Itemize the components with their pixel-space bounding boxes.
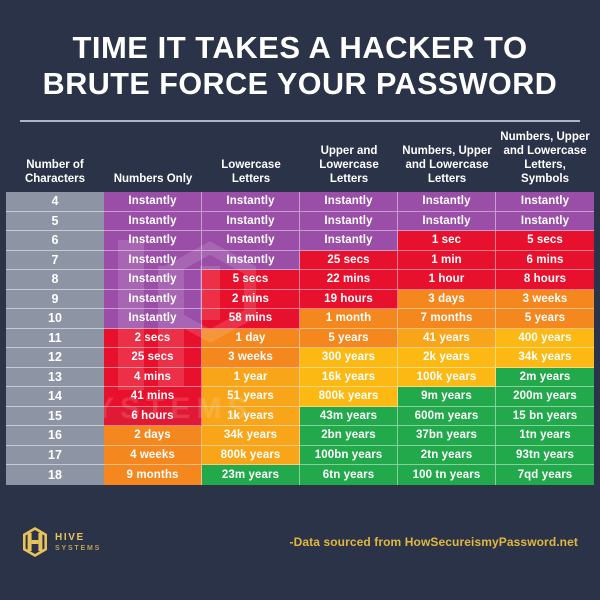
crack-time-cell: Instantly: [202, 251, 300, 271]
crack-time-cell: 300 years: [300, 348, 398, 368]
column-header-0: Number of Characters: [6, 158, 104, 192]
crack-time-cell: 2tn years: [398, 446, 496, 466]
table-body: SYSTEMS 4InstantlyInstantlyInstantlyInst…: [0, 192, 600, 485]
character-count-cell: 14: [6, 387, 104, 407]
crack-time-cell: 5 secs: [202, 270, 300, 290]
crack-time-cell: 3 weeks: [202, 348, 300, 368]
crack-time-cell: 400 years: [496, 329, 594, 349]
crack-time-cell: 37bn years: [398, 426, 496, 446]
crack-time-cell: 41 years: [398, 329, 496, 349]
crack-time-cell: 3 days: [398, 290, 496, 310]
table-header-row: Number of CharactersNumbers OnlyLowercas…: [0, 136, 600, 192]
crack-time-cell: Instantly: [202, 212, 300, 232]
crack-time-cell: 1 year: [202, 368, 300, 388]
crack-time-cell: Instantly: [104, 212, 202, 232]
hive-hexagon-icon: [22, 527, 48, 557]
table-row: 7InstantlyInstantly25 secs1 min6 mins: [6, 251, 594, 271]
table-row: 189 months23m years6tn years100 tn years…: [6, 465, 594, 485]
crack-time-cell: 2 mins: [202, 290, 300, 310]
crack-time-cell: 1tn years: [496, 426, 594, 446]
crack-time-cell: Instantly: [104, 309, 202, 329]
table-row: 134 mins1 year16k years100k years2m year…: [6, 368, 594, 388]
crack-time-cell: 800k years: [202, 446, 300, 466]
table-row: 5InstantlyInstantlyInstantlyInstantlyIns…: [6, 212, 594, 232]
table-row: 112 secs1 day5 years41 years400 years: [6, 329, 594, 349]
character-count-cell: 7: [6, 251, 104, 271]
crack-time-cell: 25 secs: [104, 348, 202, 368]
crack-time-cell: 51 years: [202, 387, 300, 407]
column-header-3: Upper and Lowercase Letters: [300, 144, 398, 192]
crack-time-cell: 100k years: [398, 368, 496, 388]
title-divider: [20, 120, 580, 122]
crack-time-cell: 58 mins: [202, 309, 300, 329]
crack-time-cell: Instantly: [104, 192, 202, 212]
column-header-5: Numbers, Upper and Lowercase Letters, Sy…: [496, 130, 594, 192]
crack-time-cell: Instantly: [104, 231, 202, 251]
crack-time-cell: 5 secs: [496, 231, 594, 251]
character-count-cell: 4: [6, 192, 104, 212]
crack-time-cell: 1 month: [300, 309, 398, 329]
data-source-note: -Data sourced from HowSecureismyPassword…: [290, 535, 579, 549]
character-count-cell: 16: [6, 426, 104, 446]
crack-time-cell: 34k years: [496, 348, 594, 368]
crack-time-cell: 7 months: [398, 309, 496, 329]
crack-time-cell: Instantly: [202, 192, 300, 212]
logo-wordmark: HIVE SYSTEMS: [55, 533, 101, 552]
page-title-line-2: BRUTE FORCE YOUR PASSWORD: [18, 66, 582, 102]
logo-name: HIVE: [55, 533, 101, 543]
table-row: 162 days34k years2bn years37bn years1tn …: [6, 426, 594, 446]
character-count-cell: 17: [6, 446, 104, 466]
crack-time-cell: 100 tn years: [398, 465, 496, 485]
crack-time-cell: 1 sec: [398, 231, 496, 251]
crack-time-cell: 6 hours: [104, 407, 202, 427]
crack-time-cell: 9 months: [104, 465, 202, 485]
crack-time-cell: 3 weeks: [496, 290, 594, 310]
table-row: 10Instantly58 mins1 month7 months5 years: [6, 309, 594, 329]
crack-time-cell: 25 secs: [300, 251, 398, 271]
crack-time-cell: 23m years: [202, 465, 300, 485]
character-count-cell: 13: [6, 368, 104, 388]
crack-time-cell: 2 days: [104, 426, 202, 446]
crack-time-cell: 7qd years: [496, 465, 594, 485]
crack-time-cell: 1 min: [398, 251, 496, 271]
crack-time-cell: 6tn years: [300, 465, 398, 485]
crack-time-cell: 9m years: [398, 387, 496, 407]
crack-time-cell: Instantly: [300, 192, 398, 212]
crack-time-cell: 200m years: [496, 387, 594, 407]
column-header-4: Numbers, Upper and Lowercase Letters: [398, 144, 496, 192]
table-row: 156 hours1k years43m years600m years15 b…: [6, 407, 594, 427]
crack-time-cell: 2 secs: [104, 329, 202, 349]
character-count-cell: 6: [6, 231, 104, 251]
crack-time-cell: Instantly: [104, 270, 202, 290]
table-row: 1225 secs3 weeks300 years2k years34k yea…: [6, 348, 594, 368]
table-row: 6InstantlyInstantlyInstantly1 sec5 secs: [6, 231, 594, 251]
crack-time-cell: 6 mins: [496, 251, 594, 271]
crack-time-cell: 1 day: [202, 329, 300, 349]
crack-time-cell: 600m years: [398, 407, 496, 427]
crack-time-cell: 16k years: [300, 368, 398, 388]
crack-time-cell: 1k years: [202, 407, 300, 427]
crack-time-cell: 5 years: [496, 309, 594, 329]
crack-time-cell: 8 hours: [496, 270, 594, 290]
crack-time-cell: Instantly: [496, 212, 594, 232]
hive-systems-logo: HIVE SYSTEMS: [22, 527, 101, 557]
crack-time-cell: 800k years: [300, 387, 398, 407]
column-header-1: Numbers Only: [104, 172, 202, 192]
crack-time-cell: 2m years: [496, 368, 594, 388]
crack-time-cell: Instantly: [300, 212, 398, 232]
character-count-cell: 8: [6, 270, 104, 290]
crack-time-cell: Instantly: [202, 231, 300, 251]
crack-time-cell: 34k years: [202, 426, 300, 446]
character-count-cell: 11: [6, 329, 104, 349]
character-count-cell: 9: [6, 290, 104, 310]
crack-time-cell: Instantly: [398, 212, 496, 232]
crack-time-cell: 43m years: [300, 407, 398, 427]
crack-time-cell: 93tn years: [496, 446, 594, 466]
crack-time-cell: 4 mins: [104, 368, 202, 388]
crack-time-cell: 22 mins: [300, 270, 398, 290]
crack-time-cell: Instantly: [104, 251, 202, 271]
crack-time-cell: Instantly: [496, 192, 594, 212]
crack-time-cell: 5 years: [300, 329, 398, 349]
character-count-cell: 15: [6, 407, 104, 427]
password-time-table: Number of CharactersNumbers OnlyLowercas…: [0, 136, 600, 485]
table-row: 4InstantlyInstantlyInstantlyInstantlyIns…: [6, 192, 594, 212]
crack-time-cell: 100bn years: [300, 446, 398, 466]
title-block: TIME IT TAKES A HACKER TO BRUTE FORCE YO…: [0, 0, 600, 122]
infographic-root: TIME IT TAKES A HACKER TO BRUTE FORCE YO…: [0, 0, 600, 600]
table-row: 174 weeks800k years100bn years2tn years9…: [6, 446, 594, 466]
character-count-cell: 12: [6, 348, 104, 368]
page-title-line-1: TIME IT TAKES A HACKER TO: [18, 30, 582, 66]
logo-subtitle: SYSTEMS: [55, 545, 101, 552]
crack-time-cell: 2k years: [398, 348, 496, 368]
crack-time-cell: 15 bn years: [496, 407, 594, 427]
footer: HIVE SYSTEMS -Data sourced from HowSecur…: [0, 485, 600, 600]
crack-time-cell: 19 hours: [300, 290, 398, 310]
crack-time-cell: 4 weeks: [104, 446, 202, 466]
table-row: 8Instantly5 secs22 mins1 hour8 hours: [6, 270, 594, 290]
crack-time-cell: Instantly: [398, 192, 496, 212]
character-count-cell: 5: [6, 212, 104, 232]
crack-time-cell: 1 hour: [398, 270, 496, 290]
crack-time-cell: 2bn years: [300, 426, 398, 446]
crack-time-cell: 41 mins: [104, 387, 202, 407]
character-count-cell: 18: [6, 465, 104, 485]
character-count-cell: 10: [6, 309, 104, 329]
table-row: 1441 mins51 years800k years9m years200m …: [6, 387, 594, 407]
table-row: 9Instantly2 mins19 hours3 days3 weeks: [6, 290, 594, 310]
crack-time-cell: Instantly: [300, 231, 398, 251]
column-header-2: Lowercase Letters: [202, 158, 300, 192]
crack-time-cell: Instantly: [104, 290, 202, 310]
